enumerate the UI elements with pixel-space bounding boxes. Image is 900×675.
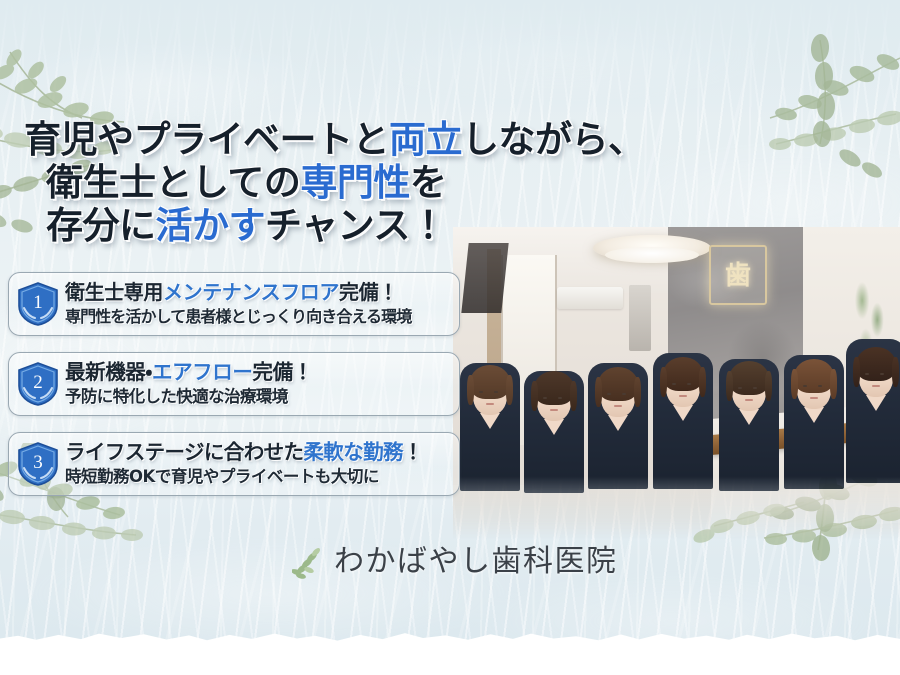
staff-mouth [614, 405, 622, 407]
headline: 育児やプライベートと両立しながら、 衛生士としての専門性を 存分に活かすチャンス… [24, 118, 494, 247]
staff-eye [738, 387, 742, 389]
staff-member [457, 363, 523, 539]
badge-number-2: 2 [33, 372, 43, 393]
staff-eye [672, 383, 676, 385]
feature-list: 1 衛生士専用メンテナンスフロア完備！ 専門性を活かして患者様とじっくり向き合え… [8, 272, 460, 496]
staff-eye [803, 385, 807, 387]
staff-eye [753, 387, 757, 389]
feature-item-3: 3 ライフステージに合わせた柔軟な勤務！ 時短勤務OKで育児やプライベートも大切… [8, 432, 460, 496]
feature-2-title: 最新機器・エアフロー完備！ [65, 360, 449, 385]
headline-line-1: 育児やプライベートと両立しながら、 [24, 118, 494, 161]
staff-member [585, 363, 651, 539]
staff-eye [494, 391, 498, 393]
feature-2-subtitle: 予防に特化した快適な治療環境 [65, 386, 449, 407]
headline-line-3-a: 存分に [46, 204, 156, 247]
feature-1-title-b: 完備！ [339, 280, 398, 304]
feature-item-1: 1 衛生士専用メンテナンスフロア完備！ 専門性を活かして患者様とじっくり向き合え… [8, 272, 460, 336]
shield-badge-2-icon: 2 [15, 361, 61, 407]
staff-member [781, 355, 847, 539]
badge-number-3: 3 [33, 452, 43, 473]
headline-line-2-a: 衛生士としての [46, 161, 300, 204]
feature-1-title-accent: メンテナンスフロア [163, 280, 339, 304]
staff-mouth [810, 397, 818, 399]
staff-eye [607, 393, 611, 395]
feature-2-title-b: 完備！ [252, 360, 312, 384]
feature-3-title-accent: 柔軟な勤務 [303, 440, 403, 464]
clinic-name: わかばやし歯科医院 [334, 545, 618, 579]
headline-line-2-accent: 専門性 [300, 161, 410, 204]
staff-member [649, 353, 717, 539]
staff-mouth [745, 399, 753, 401]
staff-hair [856, 347, 896, 381]
staff-mouth [872, 385, 880, 387]
headline-line-3-accent: 活かす [156, 204, 266, 247]
staff-eye [818, 385, 822, 387]
feature-3-title-a: ライフステージに合わせた [65, 440, 303, 464]
staff-mouth [486, 403, 494, 405]
staff-hair [729, 361, 769, 395]
staff-neckline [673, 405, 693, 421]
staff-hair [598, 367, 638, 401]
staff-eye [865, 373, 869, 375]
feature-3-title-b: ！ [403, 440, 423, 464]
staff-neckline [739, 409, 759, 425]
clinic-signature: わかばやし歯科医院 [292, 545, 618, 579]
feature-3-subtitle: 時短勤務OKで育児やプライベートも大切に [65, 466, 449, 487]
feature-2-title-a: 最新機器・ [65, 360, 152, 384]
feature-1-subtitle: 専門性を活かして患者様とじっくり向き合える環境 [65, 306, 449, 327]
staff-eye [543, 397, 547, 399]
staff-member [715, 359, 783, 539]
staff-eye [479, 391, 483, 393]
headline-line-1-a: 育児やプライベートと [24, 118, 389, 161]
shield-badge-1-icon: 1 [15, 281, 61, 327]
staff-row [453, 279, 900, 539]
staff-neckline [544, 419, 564, 435]
staff-eye [880, 373, 884, 375]
paper-top-wash [0, 0, 900, 120]
staff-eye [687, 383, 691, 385]
headline-line-2: 衛生士としての専門性を [46, 161, 494, 204]
headline-line-2-b: を [410, 161, 447, 204]
headline-line-1-b: しながら、 [462, 118, 645, 161]
badge-number-1: 1 [33, 292, 43, 313]
staff-member [521, 371, 587, 539]
headline-line-3-b: チャンス！ [265, 204, 446, 247]
leaf-sprig-icon [292, 545, 326, 579]
staff-neckline [608, 415, 628, 431]
headline-line-3: 存分に活かすチャンス！ [46, 204, 494, 247]
staff-member [843, 339, 900, 539]
staff-hair [663, 357, 703, 391]
ceiling-light-inner [605, 247, 699, 263]
feature-item-2: 2 最新機器・エアフロー完備！ 予防に特化した快適な治療環境 [8, 352, 460, 416]
bottom-white-strip [0, 647, 900, 675]
feature-2-title-accent: エアフロー [152, 360, 253, 384]
photo-content: 歯 [453, 227, 900, 539]
shield-badge-3-icon: 3 [15, 441, 61, 487]
staff-eye [622, 393, 626, 395]
staff-neckline [804, 407, 824, 423]
staff-eye [558, 397, 562, 399]
headline-line-1-accent: 両立 [389, 118, 462, 161]
recruitment-banner: 歯 [0, 0, 900, 675]
staff-hair [794, 359, 834, 393]
staff-hair [534, 371, 574, 405]
staff-hair [470, 365, 510, 399]
staff-neckline [480, 413, 500, 429]
feature-1-title-a: 衛生士専用 [65, 280, 163, 304]
feature-3-title: ライフステージに合わせた柔軟な勤務！ [65, 440, 449, 465]
staff-group-photo: 歯 [453, 227, 900, 539]
staff-mouth [679, 395, 687, 397]
feature-1-title: 衛生士専用メンテナンスフロア完備！ [65, 280, 449, 305]
staff-mouth [550, 409, 558, 411]
staff-neckline [866, 395, 886, 411]
